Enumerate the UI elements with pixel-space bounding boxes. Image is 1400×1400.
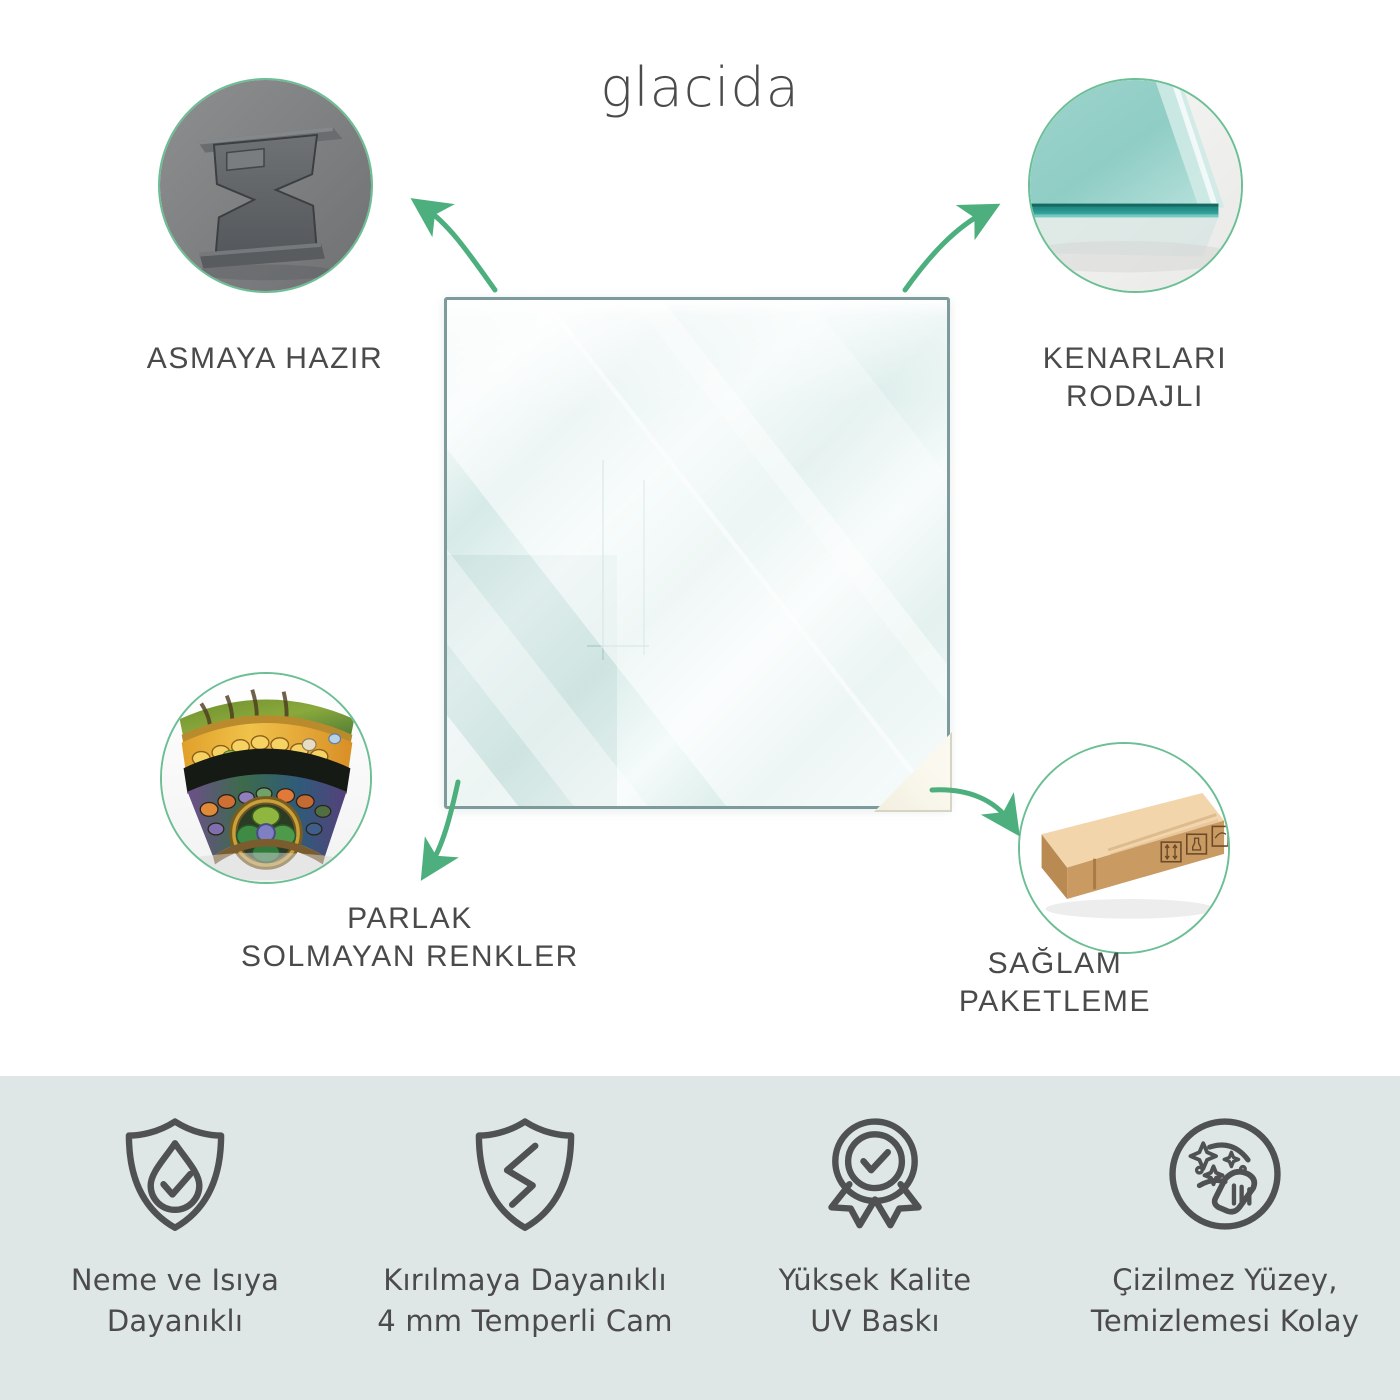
label-parlak-solmayan-renkler: PARLAK SOLMAYAN RENKLER (190, 900, 630, 977)
arrow-to-asmaya-hazir (425, 208, 495, 290)
bottom-feature-label: Yüksek Kalite UV Baskı (779, 1260, 972, 1342)
cardboard-box-icon (1020, 744, 1228, 952)
stained-glass-artwork-icon (162, 674, 370, 882)
bottom-feature-label: Kırılmaya Dayanıklı 4 mm Temperli Cam (377, 1260, 672, 1342)
polished-glass-edge-icon (1030, 80, 1241, 291)
feature-image-asmaya-hazir (158, 78, 373, 293)
arrow-to-kenarlari-rodajli (905, 212, 985, 290)
glass-surface (444, 297, 950, 809)
label-saglam-paketleme: SAĞLAM PAKETLEME (875, 945, 1235, 1022)
infographic-page: glacida (0, 0, 1400, 1400)
feature-image-saglam-paketleme (1018, 742, 1230, 954)
bottom-feature-label: Neme ve Isıya Dayanıklı (71, 1260, 279, 1342)
glass-top-gloss (447, 300, 947, 316)
shield-lightning-icon (461, 1110, 589, 1238)
shield-water-drop-check-icon (111, 1110, 239, 1238)
bottom-feature-label: Çizilmez Yüzey, Temizlemesi Kolay (1091, 1260, 1359, 1342)
bottom-feature-moisture-heat: Neme ve Isıya Dayanıklı (0, 1076, 350, 1400)
bottom-feature-high-quality: Yüksek Kalite UV Baskı (700, 1076, 1050, 1400)
feature-image-kenarlari-rodajli (1028, 78, 1243, 293)
feature-image-parlak-solmayan-renkler (160, 672, 372, 884)
bottom-feature-bar: Neme ve Isıya Dayanıklı Kırılmaya Dayanı… (0, 1076, 1400, 1400)
product-glass-panel (444, 297, 950, 809)
award-medal-check-icon (811, 1110, 939, 1238)
label-kenarlari-rodajli: KENARLARI RODAJLI (935, 340, 1335, 417)
wall-mount-bracket-icon (160, 80, 371, 291)
bottom-feature-break-resistant: Kırılmaya Dayanıklı 4 mm Temperli Cam (350, 1076, 700, 1400)
bottom-feature-scratch-free: Çizilmez Yüzey, Temizlemesi Kolay (1050, 1076, 1400, 1400)
hand-sparkle-clean-icon (1161, 1110, 1289, 1238)
label-asmaya-hazir: ASMAYA HAZIR (55, 340, 475, 378)
